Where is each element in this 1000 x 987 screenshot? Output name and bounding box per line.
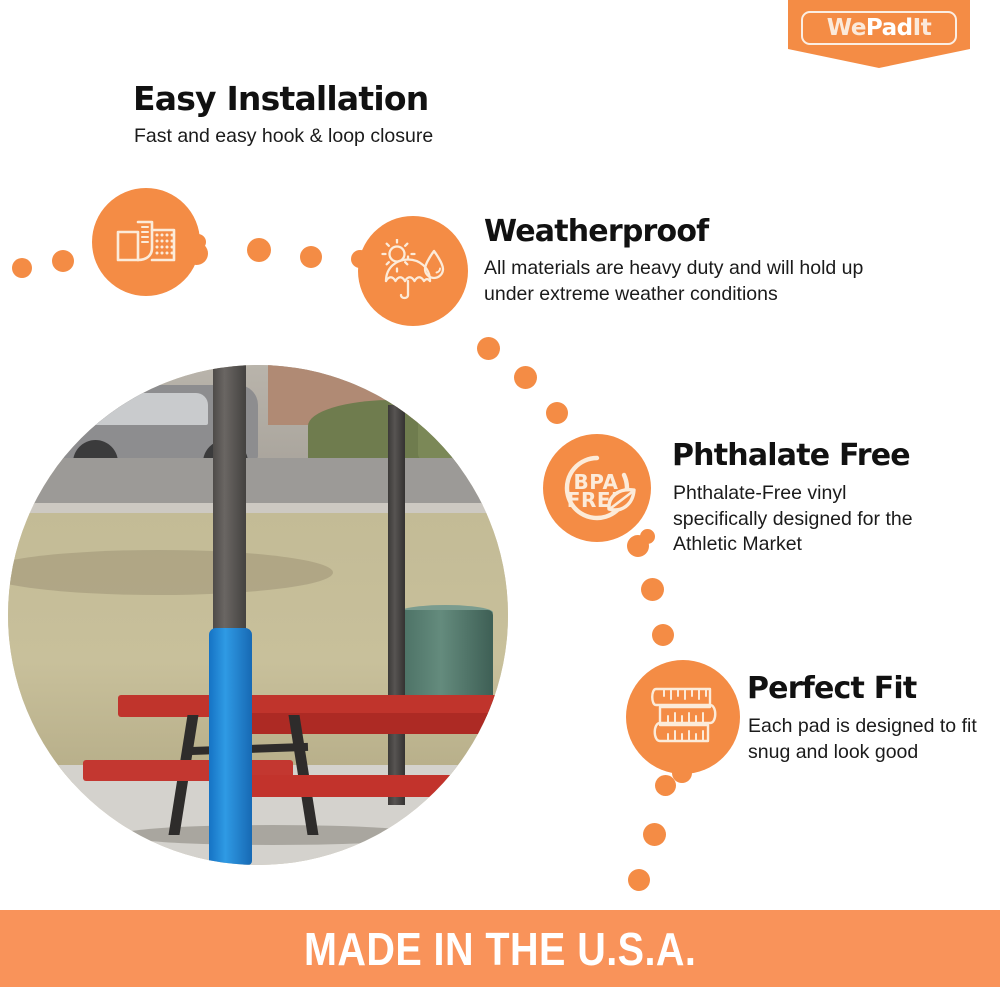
trail-dot xyxy=(652,624,674,646)
logo-text-it: It xyxy=(913,15,932,41)
logo-text-we: We xyxy=(827,15,866,41)
product-feature-infographic: WePadIt Easy Installation Fast and easy … xyxy=(0,0,1000,987)
feature-title-easy-installation: Easy Installation xyxy=(133,79,428,118)
made-in-usa-label: MADE IN THE U.S.A. xyxy=(304,922,696,976)
feature-body-easy-installation: Fast and easy hook & loop closure xyxy=(134,124,554,150)
trail-dot xyxy=(300,246,322,268)
photo-table-shadow xyxy=(118,825,428,845)
feature-body-perfect-fit: Each pad is designed to fit snug and loo… xyxy=(748,714,978,765)
sun-umbrella-raindrop-icon xyxy=(377,239,449,303)
feature-title-weatherproof: Weatherproof xyxy=(484,214,708,249)
photo-blue-pole-pad xyxy=(209,628,252,866)
made-in-usa-banner: MADE IN THE U.S.A. xyxy=(0,910,1000,987)
trail-dot xyxy=(641,578,664,601)
feature-icon-circle-weatherproof[interactable] xyxy=(358,216,468,326)
trail-dot xyxy=(247,238,271,262)
velcro-hook-loop-icon xyxy=(114,216,178,268)
logo-outline-box: WePadIt xyxy=(801,11,957,45)
trail-dot xyxy=(546,402,568,424)
photo-road xyxy=(8,458,508,506)
feature-icon-circle-phthalate-free[interactable]: BPA FREE xyxy=(543,434,651,542)
trail-dot xyxy=(514,366,537,389)
feature-title-phthalate-free: Phthalate Free xyxy=(672,438,910,473)
trail-dot xyxy=(52,250,74,272)
feature-icon-circle-perfect-fit[interactable] xyxy=(626,660,740,774)
photo-car-window xyxy=(78,393,208,426)
photo-table-top xyxy=(233,713,508,734)
bpa-free-leaf-icon: BPA FREE xyxy=(556,447,638,529)
feature-icon-circle-easy-installation[interactable] xyxy=(92,188,200,296)
feature-body-weatherproof: All materials are heavy duty and will ho… xyxy=(484,256,914,307)
photo-bench xyxy=(248,775,458,797)
trail-dot xyxy=(628,869,650,891)
photo-back-post xyxy=(388,405,405,805)
trail-dot xyxy=(477,337,500,360)
feature-title-perfect-fit: Perfect Fit xyxy=(747,671,916,706)
logo-text-pad: Pad xyxy=(866,15,913,41)
product-photo xyxy=(8,365,508,865)
photo-hedge xyxy=(418,385,508,460)
measuring-tape-icon xyxy=(644,681,722,753)
trail-dot xyxy=(643,823,666,846)
feature-body-phthalate-free: Phthalate-Free vinyl specifically design… xyxy=(673,481,943,558)
trail-dot xyxy=(12,258,32,278)
brand-logo[interactable]: WePadIt xyxy=(788,0,970,68)
